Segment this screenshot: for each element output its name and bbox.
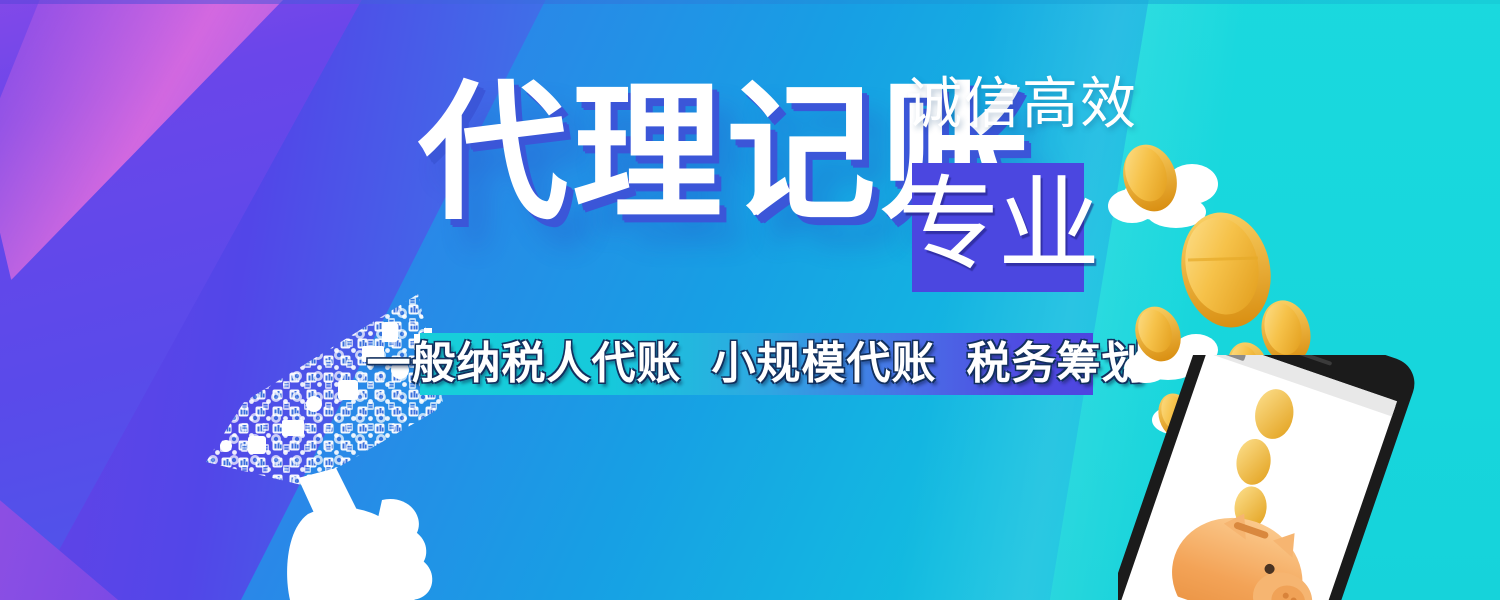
service-item-1: 小规模代账 <box>712 342 937 386</box>
background-top-edge-line <box>0 0 1500 4</box>
phone-body <box>1118 355 1421 600</box>
smartphone-graphic <box>1118 355 1448 600</box>
status-badge: 专业 <box>912 163 1084 292</box>
service-item-0: 一般纳税人代账 <box>367 342 682 386</box>
services-bar: 一般纳税人代账 小规模代账 税务筹划 <box>420 333 1093 395</box>
badge-label: 专业 <box>898 174 1098 276</box>
promo-banner: 代理记账 诚信高效 专业 一般纳税人代账 小规模代账 税务筹划 <box>0 0 1500 600</box>
hand-icon <box>287 499 432 600</box>
